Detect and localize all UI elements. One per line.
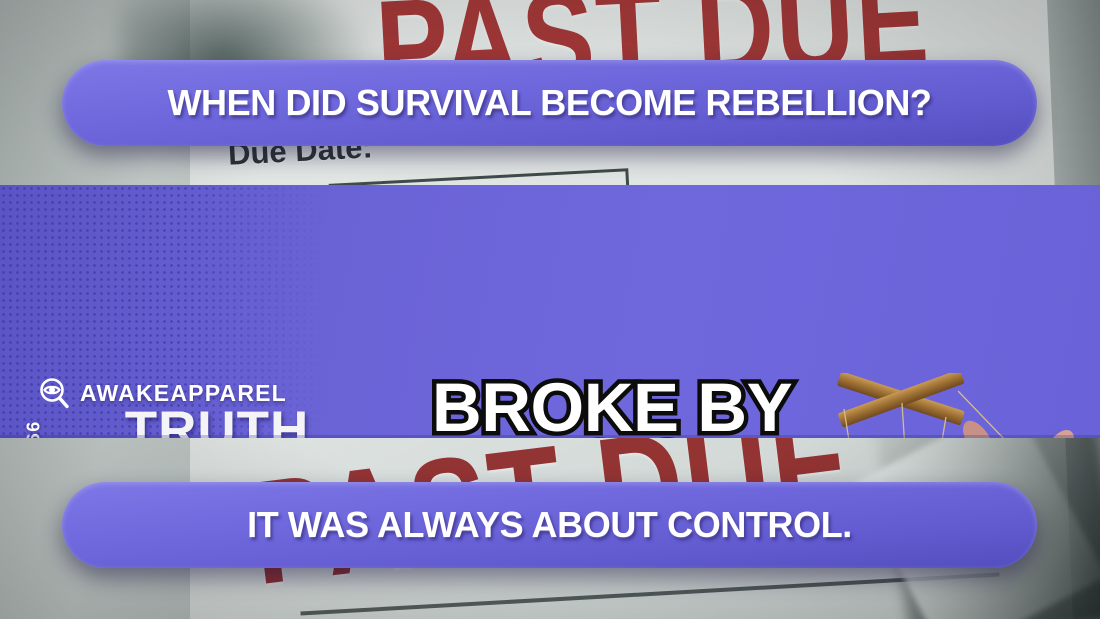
headline-block: BROKE BY DESIGN THEY WANT YOUR SILENCE. … [382,378,842,438]
question-banner-pill[interactable]: WHEN DID SURVIVAL BECOME REBELLION? [62,60,1037,146]
conclusion-banner-text: IT WAS ALWAYS ABOUT CONTROL. [247,504,852,546]
conclusion-banner-pill[interactable]: IT WAS ALWAYS ABOUT CONTROL. [62,482,1037,568]
question-banner-text: WHEN DID SURVIVAL BECOME REBELLION? [167,82,931,124]
brand-title-line1: TRUTH [30,407,370,438]
brand-lockup: AWAKEAPPAREL TRUTH UNVEILED [30,377,370,438]
band-bottom-edge [0,435,1100,438]
eye-magnifier-icon [38,377,72,409]
puppet-money-piggy-art: $ [818,373,1100,438]
graphic-canvas: PAST DUE Due Date: PAST DUE FEATURE 66 [0,0,1100,619]
feature-band: FEATURE 66 AWAKEAPPAREL TRUTH UNVEILED [0,185,1100,438]
